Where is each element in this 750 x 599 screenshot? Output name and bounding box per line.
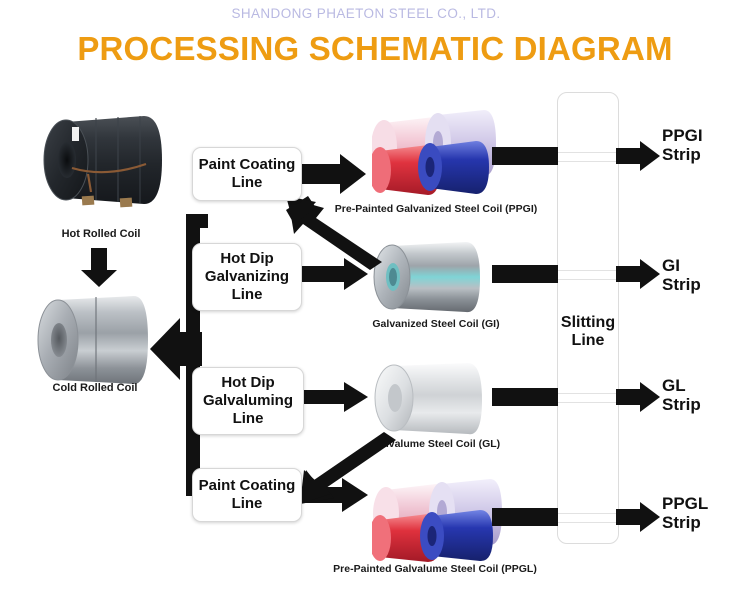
page-title: PROCESSING SCHEMATIC DIAGRAM bbox=[0, 30, 750, 68]
pb1-l2: Galvanizing bbox=[205, 268, 289, 285]
pb3-l1: Paint Coating bbox=[199, 477, 296, 494]
slit-rule-ppgi-bottom bbox=[557, 161, 619, 162]
arrow-ppgl-into-slitter bbox=[492, 508, 558, 526]
output-label-gi-strip: GI Strip bbox=[662, 256, 701, 294]
gi-strip-l2: Strip bbox=[662, 275, 701, 294]
gl-coil-image bbox=[368, 360, 492, 440]
slit-rule-ppgl-bottom bbox=[557, 522, 619, 523]
slit-rule-gl-bottom bbox=[557, 402, 619, 403]
slit-rule-gl-top bbox=[557, 393, 619, 394]
gl-strip-l2: Strip bbox=[662, 395, 701, 414]
process-box-paint-coating-bottom-text: Paint Coating Line bbox=[199, 477, 296, 512]
process-box-hot-dip-galvanizing[interactable]: Hot Dip Galvanizing Line bbox=[192, 243, 302, 311]
arrow-gi-into-slitter bbox=[492, 265, 558, 283]
arrow-ppgi-strip-out bbox=[616, 141, 660, 171]
ppgi-strip-l1: PPGI bbox=[662, 126, 703, 145]
process-box-hot-dip-galvaluming-text: Hot Dip Galvaluming Line bbox=[203, 374, 293, 427]
gi-coil-image bbox=[368, 238, 490, 318]
pb0-l2: Line bbox=[232, 174, 263, 191]
arrow-gl-into-slitter bbox=[492, 388, 558, 406]
process-box-paint-coating-top[interactable]: Paint Coating Line bbox=[192, 147, 302, 201]
pb1-l3: Line bbox=[232, 286, 263, 303]
ppgl-strip-l1: PPGL bbox=[662, 494, 708, 513]
slitting-line-2: Line bbox=[572, 332, 605, 349]
gl-strip-l1: GL bbox=[662, 376, 686, 395]
arrow-ppgi-into-slitter bbox=[492, 147, 558, 165]
pb2-l3: Line bbox=[233, 410, 264, 427]
slit-rule-gi-top bbox=[557, 270, 619, 271]
process-box-paint-coating-bottom[interactable]: Paint Coating Line bbox=[192, 468, 302, 522]
slit-rule-gi-bottom bbox=[557, 279, 619, 280]
arrow-galvaluming-to-gl bbox=[304, 382, 368, 412]
company-name: SHANDONG PHAETON STEEL CO., LTD. bbox=[0, 6, 750, 21]
arrow-gl-strip-out bbox=[616, 382, 660, 412]
arrow-hot-to-cold bbox=[80, 248, 118, 288]
pb2-l2: Galvaluming bbox=[203, 392, 293, 409]
ppgi-coil-image bbox=[372, 97, 500, 199]
output-label-ppgl-strip: PPGL Strip bbox=[662, 494, 708, 532]
gi-strip-l1: GI bbox=[662, 256, 680, 275]
slit-rule-ppgi-top bbox=[557, 152, 619, 153]
arrow-into-paint-coating-top bbox=[186, 214, 208, 228]
ppgl-strip-l2: Strip bbox=[662, 513, 701, 532]
cold-rolled-coil-label: Cold Rolled Coil bbox=[20, 382, 170, 394]
slitting-line-label: Slitting Line bbox=[548, 314, 628, 351]
output-label-gl-strip: GL Strip bbox=[662, 376, 701, 414]
arrow-ppgl-strip-out bbox=[616, 502, 660, 532]
cold-rolled-coil-image bbox=[30, 288, 156, 392]
pb1-l1: Hot Dip bbox=[220, 250, 273, 267]
arrow-gl-to-paint-coating-bottom bbox=[300, 432, 396, 506]
gi-coil-caption: Galvanized Steel Coil (GI) bbox=[336, 318, 536, 330]
pb2-l1: Hot Dip bbox=[221, 374, 274, 391]
slit-rule-ppgl-top bbox=[557, 513, 619, 514]
ppgl-coil-caption: Pre-Painted Galvalume Steel Coil (PPGL) bbox=[308, 563, 562, 575]
arrow-paint-coating-top-to-ppgi bbox=[300, 154, 366, 194]
slitting-line-1: Slitting bbox=[561, 314, 615, 331]
pb3-l2: Line bbox=[232, 495, 263, 512]
process-box-paint-coating-top-text: Paint Coating Line bbox=[199, 156, 296, 191]
ppgi-strip-l2: Strip bbox=[662, 145, 701, 164]
process-box-hot-dip-galvanizing-text: Hot Dip Galvanizing Line bbox=[205, 250, 289, 303]
hot-rolled-coil-image bbox=[36, 104, 172, 216]
arrow-gi-strip-out bbox=[616, 259, 660, 289]
output-label-ppgi-strip: PPGI Strip bbox=[662, 126, 703, 164]
pb0-l1: Paint Coating bbox=[199, 156, 296, 173]
process-box-hot-dip-galvaluming[interactable]: Hot Dip Galvaluming Line bbox=[192, 367, 304, 435]
diagram-canvas: SHANDONG PHAETON STEEL CO., LTD. PROCESS… bbox=[0, 0, 750, 599]
hot-rolled-coil-label: Hot Rolled Coil bbox=[26, 228, 176, 240]
